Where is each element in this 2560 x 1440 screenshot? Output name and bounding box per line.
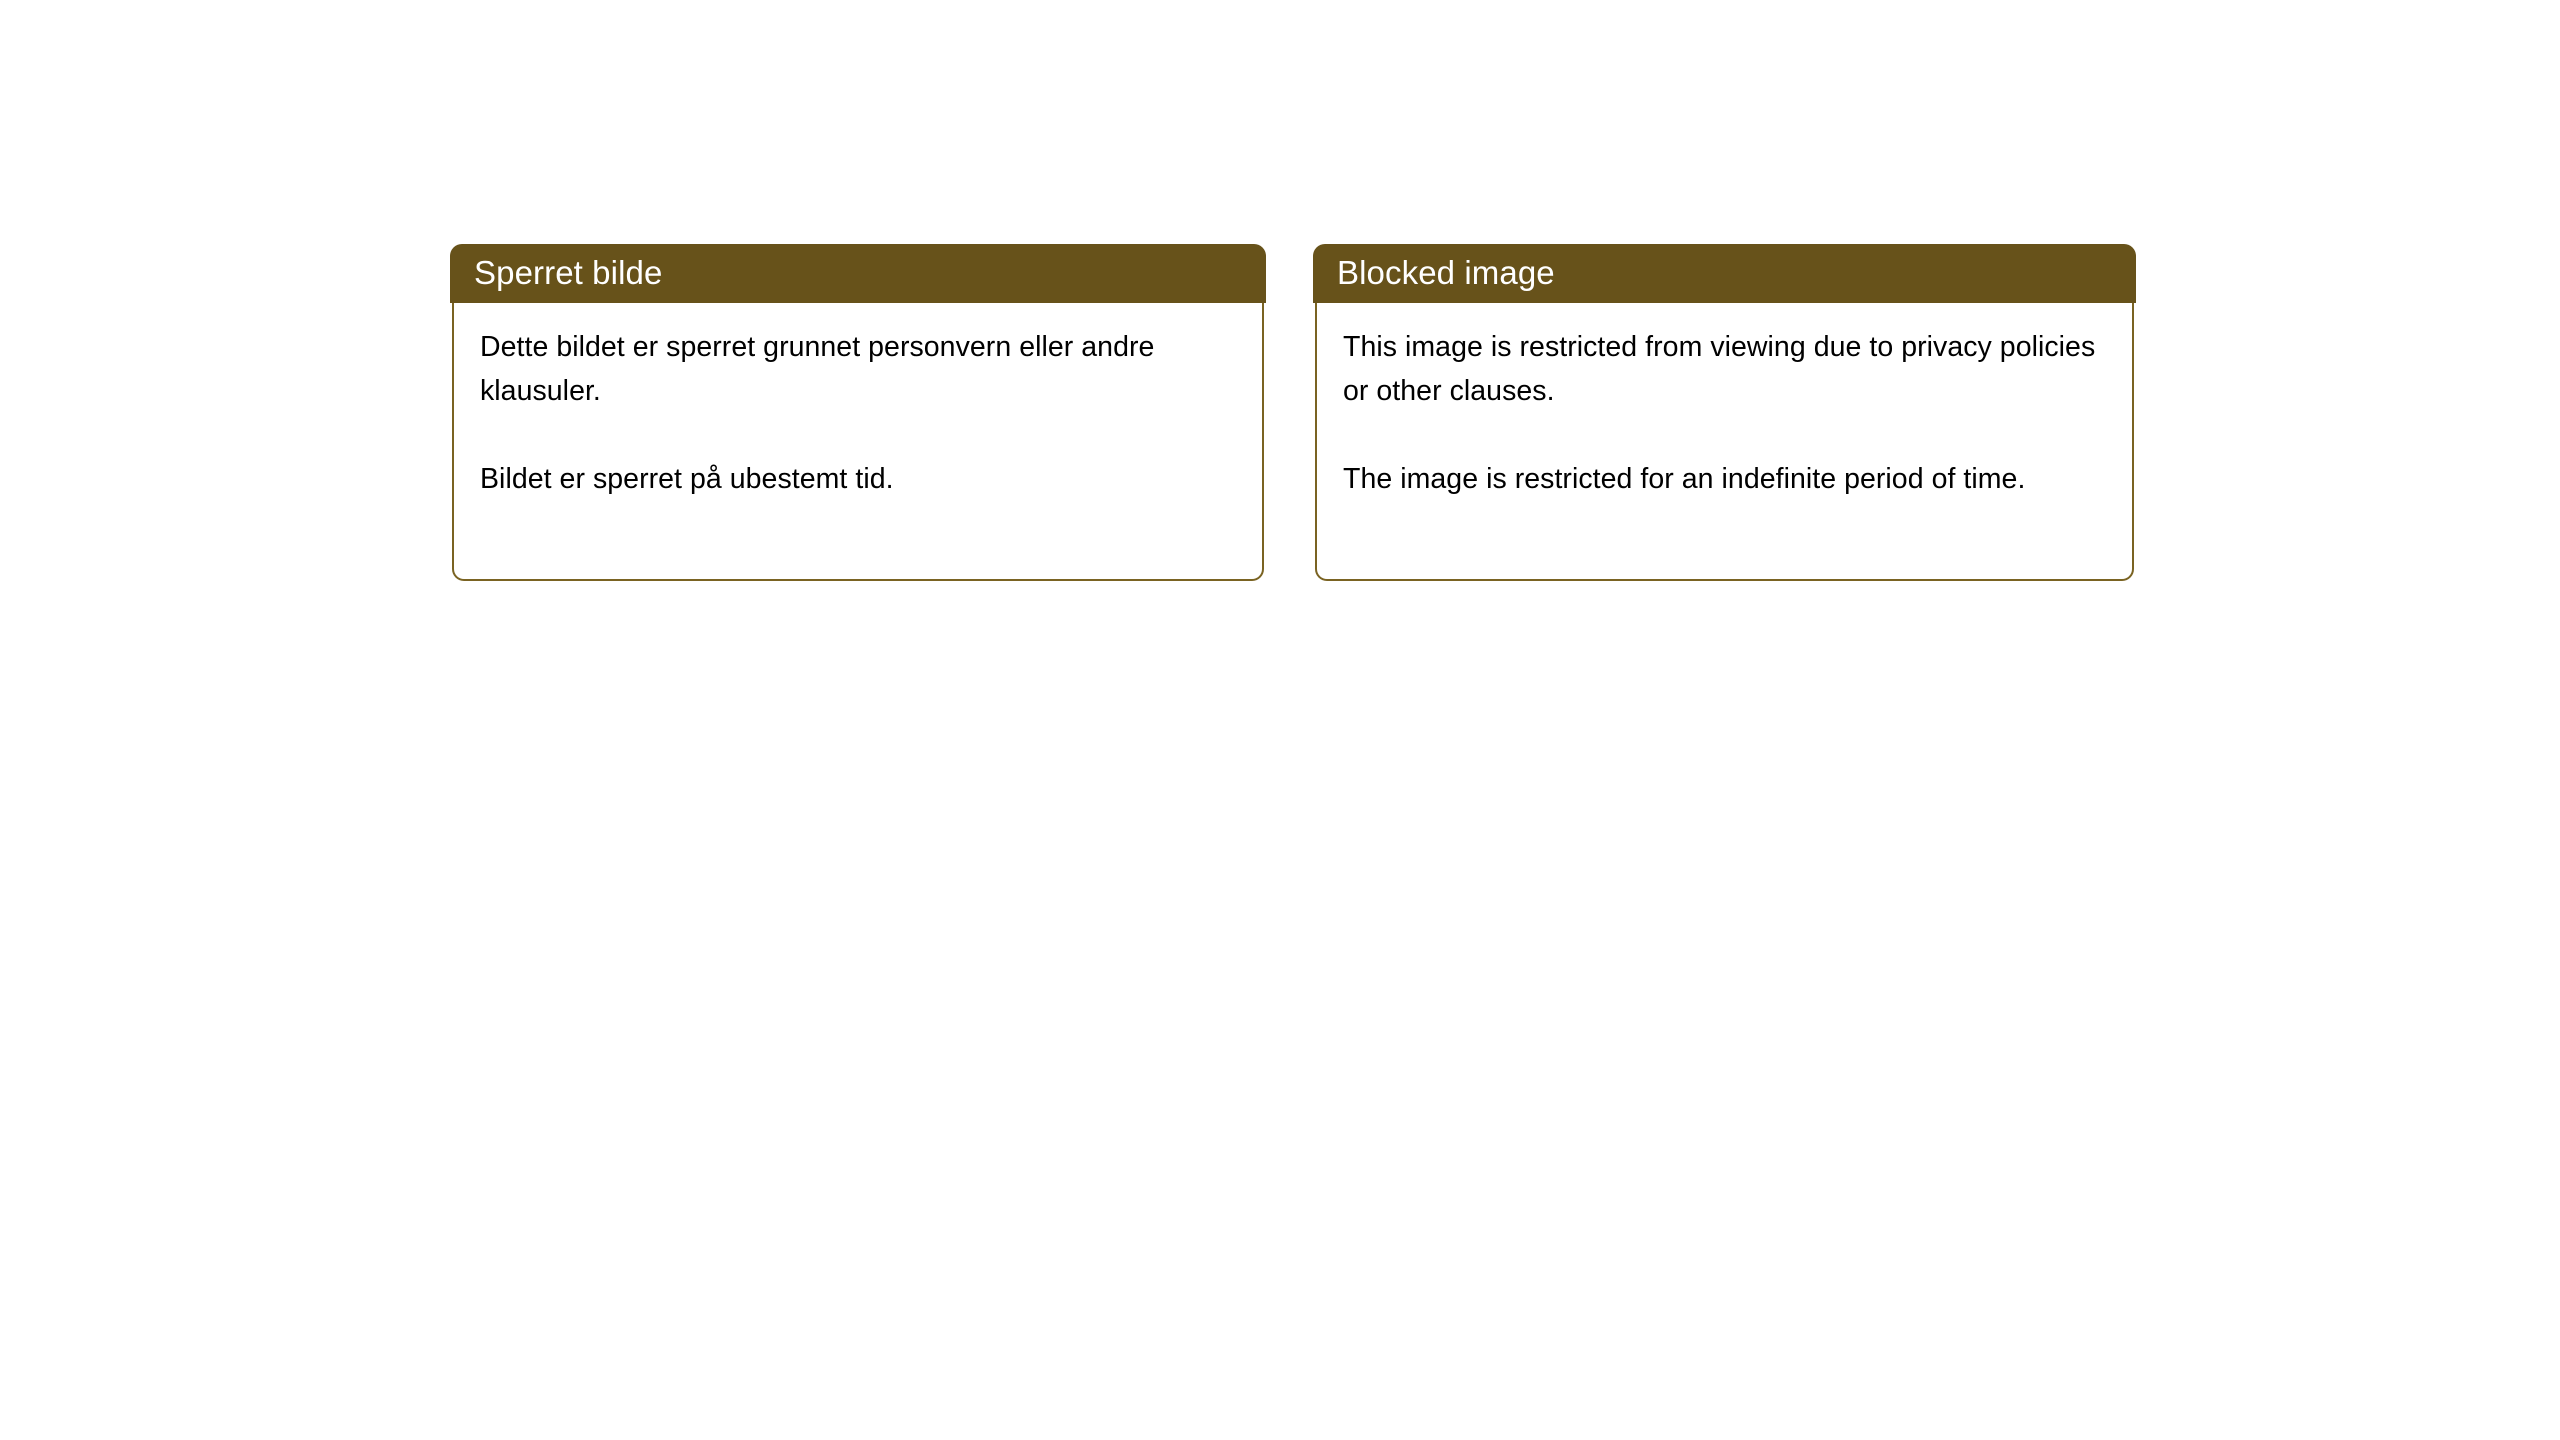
card-paragraph-secondary: The image is restricted for an indefinit… [1343, 457, 2108, 501]
card-paragraph-primary: This image is restricted from viewing du… [1343, 325, 2108, 413]
card-header-bar: Sperret bilde [450, 244, 1266, 303]
card-title: Blocked image [1337, 256, 1555, 289]
blocked-image-notice-card-english: Blocked image This image is restricted f… [1313, 244, 2136, 581]
card-body: Dette bildet er sperret grunnet personve… [452, 303, 1264, 581]
card-header-bar: Blocked image [1313, 244, 2136, 303]
card-paragraph-secondary: Bildet er sperret på ubestemt tid. [480, 457, 1238, 501]
card-title: Sperret bilde [474, 256, 662, 289]
card-body: This image is restricted from viewing du… [1315, 303, 2134, 581]
page-canvas: Sperret bilde Dette bildet er sperret gr… [0, 0, 2560, 1440]
card-paragraph-primary: Dette bildet er sperret grunnet personve… [480, 325, 1238, 413]
blocked-image-notice-card-norwegian: Sperret bilde Dette bildet er sperret gr… [450, 244, 1266, 581]
